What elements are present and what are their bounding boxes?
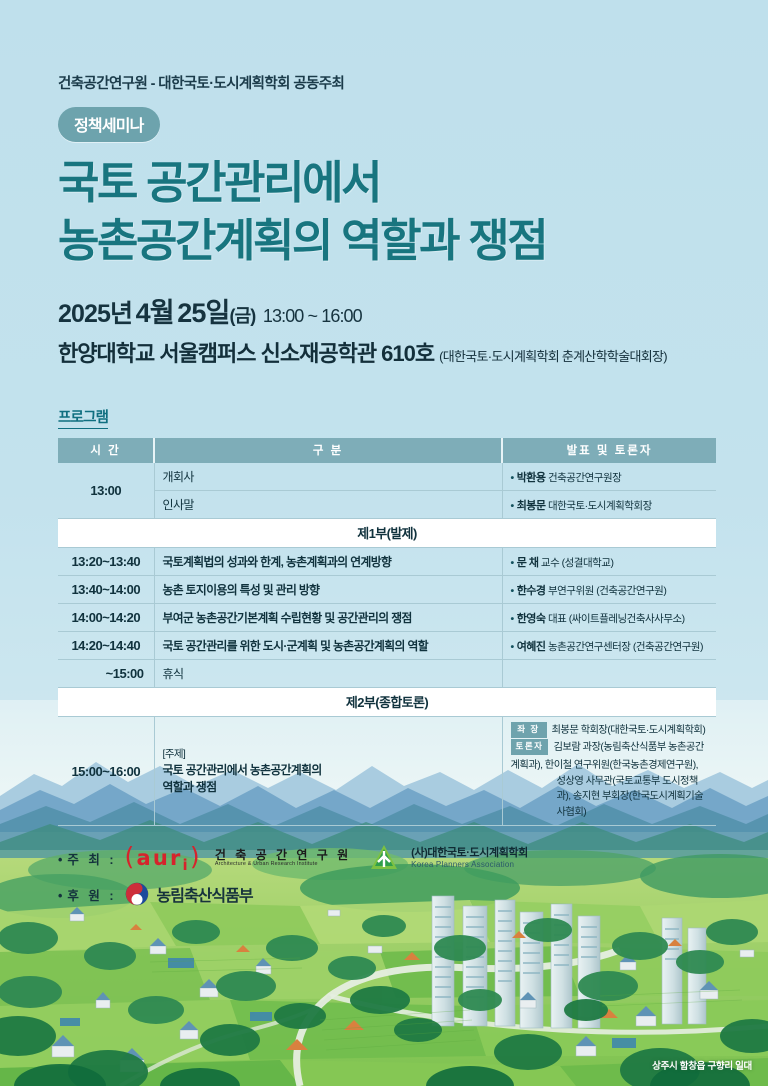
program-heading: 프로그램 bbox=[58, 406, 108, 429]
speaker-name: 최봉문 bbox=[517, 500, 546, 512]
speaker-name: 한영숙 bbox=[517, 613, 546, 625]
title-line-2: 농촌공간계획의 역할과 쟁점 bbox=[58, 212, 716, 270]
part1-speaker-1: 한수경 부연구위원 (건축공간연구원) bbox=[502, 576, 716, 604]
event-year: 2025년 bbox=[58, 300, 132, 328]
subject-text: 휴식 bbox=[163, 667, 184, 681]
subject-text: 국토 공간관리를 위한 도시·군계획 및 농촌공간계획의 역할 bbox=[163, 639, 428, 653]
topic-tag: [주제] bbox=[163, 747, 494, 762]
part1-subject-4: 휴식 bbox=[154, 660, 502, 688]
part1-time-3: 14:20~14:40 bbox=[58, 632, 154, 660]
speaker-title: 대한국토·도시계획학회장 bbox=[548, 500, 652, 512]
column-header-speakers: 발표 및 토론자 bbox=[502, 438, 716, 463]
event-month: 4월 bbox=[136, 298, 174, 328]
speaker-name: 한수경 bbox=[517, 585, 546, 597]
part1-subject-2: 부여군 농촌공간기본계획 수립현황 및 공간관리의 쟁점 bbox=[154, 604, 502, 632]
photo-credit: 상주시 함창읍 구향리 일대 bbox=[652, 1058, 752, 1072]
opening-speaker-0: 박환용 건축공간연구원장 bbox=[502, 463, 716, 491]
speaker-name: 박환용 bbox=[517, 472, 546, 484]
opening-time: 13:00 bbox=[58, 463, 154, 519]
auri-logo-text: 건 축 공 간 연 구 원 Architecture & Urban Resea… bbox=[215, 849, 351, 867]
event-day: 25일 bbox=[177, 298, 229, 328]
speaker-entry: 최봉문 대한국토·도시계획학회장 bbox=[511, 500, 652, 512]
column-header-section: 구 분 bbox=[154, 438, 502, 463]
speaker-name: 문 채 bbox=[517, 557, 539, 569]
table-row: 14:20~14:40 국토 공간관리를 위한 도시·군계획 및 농촌공간계획의… bbox=[58, 632, 716, 660]
part1-time-4: ~15:00 bbox=[58, 660, 154, 688]
topic-line-2: 역할과 쟁점 bbox=[163, 779, 494, 796]
speaker-title: 부연구위원 (건축공간연구원) bbox=[548, 585, 666, 597]
part1-speaker-2: 한영숙 대표 (싸이트플레닝건축사사무소) bbox=[502, 604, 716, 632]
part1-speaker-0: 문 채 교수 (성결대학교) bbox=[502, 548, 716, 576]
auri-wordmark: aur bbox=[136, 846, 182, 870]
speaker-name: 여혜진 bbox=[517, 641, 546, 653]
event-weekday: (금) bbox=[229, 306, 255, 326]
speaker-title: 교수 (성결대학교) bbox=[541, 557, 614, 569]
mafra-name: 농림축산식품부 bbox=[157, 882, 253, 906]
page-title: 국토 공간관리에서 농촌공간계획의 역할과 쟁점 bbox=[58, 154, 716, 269]
host-label: 주 최 : bbox=[58, 849, 117, 868]
opening-speaker-1: 최봉문 대한국토·도시계획학회장 bbox=[502, 491, 716, 519]
title-line-1: 국토 공간관리에서 bbox=[58, 157, 380, 208]
part1-subject-0: 국토계획법의 성과와 한계, 농촌계획과의 연계방향 bbox=[154, 548, 502, 576]
seminar-type-badge: 정책세미나 bbox=[58, 107, 160, 142]
subject-text: 농촌 토지이용의 특성 및 관리 방향 bbox=[163, 583, 320, 597]
speaker-entry: 문 채 교수 (성결대학교) bbox=[511, 557, 614, 569]
part1-time-2: 14:00~14:20 bbox=[58, 604, 154, 632]
subject-text: 개회사 bbox=[163, 470, 194, 484]
column-header-time: 시 간 bbox=[58, 438, 154, 463]
speaker-entry: 박환용 건축공간연구원장 bbox=[511, 472, 622, 484]
speaker-entry: 여혜진 농촌공간연구센터장 (건축공간연구원) bbox=[511, 641, 703, 653]
part2-topic: [주제] 국토 공간관리에서 농촌공간계획의 역할과 쟁점 bbox=[154, 717, 502, 826]
sponsors-section: 주 최 : (auri) 건 축 공 간 연 구 원 Architecture … bbox=[58, 843, 716, 906]
table-row: 13:20~13:40 국토계획법의 성과와 한계, 농촌계획과의 연계방향 문… bbox=[58, 548, 716, 576]
table-row: 14:00~14:20 부여군 농촌공간기본계획 수립현황 및 공간관리의 쟁점… bbox=[58, 604, 716, 632]
support-label: 후 원 : bbox=[58, 885, 117, 904]
opening-subject-0: 개회사 bbox=[154, 463, 502, 491]
topic-line-1: 국토 공간관리에서 농촌공간계획의 bbox=[163, 762, 494, 779]
part2-panel: 좌 장최봉문 학회장(대한국토·도시계획학회) 토론자김보람 과장(농림축산식품… bbox=[502, 717, 716, 826]
auri-name-en: Architecture & Urban Research Institute bbox=[215, 862, 351, 868]
part1-subject-1: 농촌 토지이용의 특성 및 관리 방향 bbox=[154, 576, 502, 604]
event-datetime: 2025년 4월 25일(금) 13:00 ~ 16:00 bbox=[58, 291, 716, 330]
kpa-name-ko: (사)대한국토·도시계획학회 bbox=[411, 847, 528, 860]
table-row: 13:00 개회사 박환용 건축공간연구원장 bbox=[58, 463, 716, 491]
co-host-line: 건축공간연구원 - 대한국토·도시계획학회 공동주최 bbox=[58, 72, 716, 93]
part1-speaker-3: 여혜진 농촌공간연구센터장 (건축공간연구원) bbox=[502, 632, 716, 660]
auri-name-ko: 건 축 공 간 연 구 원 bbox=[215, 849, 351, 862]
speaker-title: 대표 (싸이트플레닝건축사사무소) bbox=[548, 613, 685, 625]
host-row: 주 최 : (auri) 건 축 공 간 연 구 원 Architecture … bbox=[58, 843, 716, 873]
table-row: 13:40~14:00 농촌 토지이용의 특성 및 관리 방향 한수경 부연구위… bbox=[58, 576, 716, 604]
taegeuk-icon bbox=[125, 882, 149, 906]
part1-time-0: 13:20~13:40 bbox=[58, 548, 154, 576]
part1-subject-3: 국토 공간관리를 위한 도시·군계획 및 농촌공간계획의 역할 bbox=[154, 632, 502, 660]
kpa-name-en: Korea Planners Association bbox=[411, 860, 528, 869]
part2-time: 15:00~16:00 bbox=[58, 717, 154, 826]
part2-heading: 제2부(종합토론) bbox=[58, 688, 716, 717]
speaker-title: 농촌공간연구센터장 (건축공간연구원) bbox=[548, 641, 703, 653]
part1-heading: 제1부(발제) bbox=[58, 519, 716, 548]
event-venue: 한양대학교 서울캠퍼스 신소재공학관 610호(대한국토·도시계획학회 춘계산학… bbox=[58, 336, 716, 368]
kpa-logo-text: (사)대한국토·도시계획학회 Korea Planners Associatio… bbox=[411, 847, 528, 869]
support-row: 후 원 : 농림축산식품부 bbox=[58, 882, 716, 906]
part1-heading-row: 제1부(발제) bbox=[58, 519, 716, 548]
speaker-title: 건축공간연구원장 bbox=[548, 472, 621, 484]
kpa-logo-icon bbox=[369, 843, 399, 873]
poster-root: 상주시 함창읍 구향리 일대 건축공간연구원 - 대한국토·도시계획학회 공동주… bbox=[0, 0, 768, 1086]
panelist-row: 토론자김보람 과장(농림축산식품부 농촌공간계획과), 한이철 연구위원(한국농… bbox=[511, 739, 709, 820]
speaker-entry: 한영숙 대표 (싸이트플레닝건축사사무소) bbox=[511, 613, 685, 625]
subject-text: 부여군 농촌공간기본계획 수립현황 및 공간관리의 쟁점 bbox=[163, 611, 412, 625]
panelist-line-2: 성상영 사무관(국토교통부 도시정책과), 송지현 부회장(한국도시계획기술사협… bbox=[511, 774, 709, 820]
part1-time-1: 13:40~14:00 bbox=[58, 576, 154, 604]
table-row: ~15:00 휴식 bbox=[58, 660, 716, 688]
part1-speaker-4 bbox=[502, 660, 716, 688]
venue-name: 한양대학교 서울캠퍼스 신소재공학관 610호 bbox=[58, 341, 434, 366]
panelist-badge: 토론자 bbox=[511, 739, 549, 755]
speaker-entry: 한수경 부연구위원 (건축공간연구원) bbox=[511, 585, 667, 597]
poster-content: 건축공간연구원 - 대한국토·도시계획학회 공동주최 정책세미나 국토 공간관리… bbox=[0, 0, 768, 906]
moderator-name: 최봉문 학회장(대한국토·도시계획학회) bbox=[552, 725, 706, 736]
program-table-header-row: 시 간 구 분 발표 및 토론자 bbox=[58, 438, 716, 463]
table-row: 15:00~16:00 [주제] 국토 공간관리에서 농촌공간계획의 역할과 쟁… bbox=[58, 717, 716, 826]
table-row: 인사말 최봉문 대한국토·도시계획학회장 bbox=[58, 491, 716, 519]
moderator-badge: 좌 장 bbox=[511, 722, 547, 738]
subject-text: 국토계획법의 성과와 한계, 농촌계획과의 연계방향 bbox=[163, 555, 392, 569]
moderator-row: 좌 장최봉문 학회장(대한국토·도시계획학회) bbox=[511, 722, 709, 739]
part2-heading-row: 제2부(종합토론) bbox=[58, 688, 716, 717]
opening-subject-1: 인사말 bbox=[154, 491, 502, 519]
event-hours: 13:00 ~ 16:00 bbox=[263, 306, 362, 326]
auri-logo: (auri) bbox=[125, 844, 202, 873]
program-table: 시 간 구 분 발표 및 토론자 13:00 개회사 박환용 건축공간연구원장 bbox=[58, 438, 716, 826]
venue-note: (대한국토·도시계획학회 춘계산학학술대회장) bbox=[439, 349, 667, 364]
subject-text: 인사말 bbox=[163, 498, 194, 512]
